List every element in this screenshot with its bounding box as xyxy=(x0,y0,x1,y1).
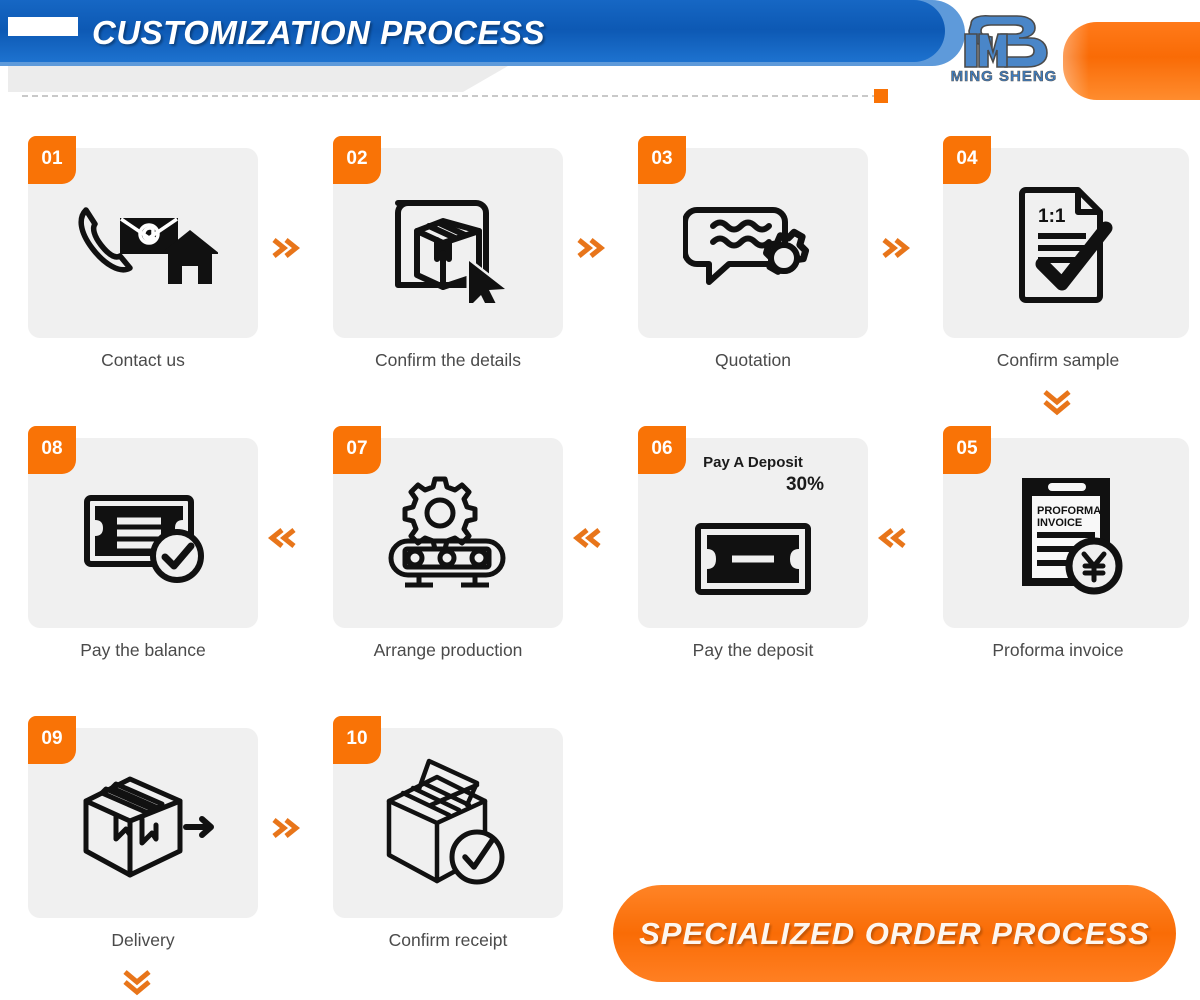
step-caption: Contact us xyxy=(18,350,268,371)
infographic-page: CUSTOMIZATION PROCESS MING SHENG xyxy=(0,0,1200,1000)
chevron-double-right-icon xyxy=(262,808,306,848)
step-card-04[interactable]: 04 1:1 xyxy=(933,128,1200,418)
step-caption: Pay the balance xyxy=(18,640,268,661)
card-surface: 02 xyxy=(333,148,563,338)
card-surface: 01 xyxy=(28,148,258,338)
header-dashed-rule xyxy=(22,95,878,97)
header-white-tick xyxy=(8,17,78,36)
brand-name: MING SHENG xyxy=(945,68,1063,85)
step-number-badge: 01 xyxy=(28,136,76,184)
card-surface: 05 PROFORMA INVOICE xyxy=(943,438,1189,628)
step-number-badge: 02 xyxy=(333,136,381,184)
header-dash-end-square xyxy=(874,89,888,103)
banner-label: SPECIALIZED ORDER PROCESS xyxy=(639,916,1150,952)
card-surface: 10 xyxy=(333,728,563,918)
process-row-2: 08 Pay the balance xyxy=(0,418,1200,708)
card-surface: 06 Pay A Deposit 30% xyxy=(638,438,868,628)
card-surface: 03 xyxy=(638,148,868,338)
specialized-order-process-banner[interactable]: SPECIALIZED ORDER PROCESS xyxy=(613,885,1176,982)
scale-label: 1:1 xyxy=(1038,206,1066,227)
chevron-double-left-icon xyxy=(872,518,916,558)
process-grid: 01 xyxy=(0,118,1200,1000)
invoice-line-1: PROFORMA xyxy=(1037,505,1101,517)
header-grey-ribbon xyxy=(8,66,508,92)
step-number-badge: 10 xyxy=(333,716,381,764)
process-row-1: 01 xyxy=(0,128,1200,418)
step-card-09[interactable]: 09 xyxy=(18,708,288,998)
page-title: CUSTOMIZATION PROCESS xyxy=(92,14,545,52)
chevron-double-right-icon xyxy=(567,228,611,268)
card-surface: 08 xyxy=(28,438,258,628)
step-number-badge: 03 xyxy=(638,136,686,184)
step-caption: Delivery xyxy=(18,930,268,951)
step-card-06[interactable]: 06 Pay A Deposit 30% Pay the deposit xyxy=(628,418,898,708)
step-caption: Confirm the details xyxy=(323,350,573,371)
card-surface: 09 xyxy=(28,728,258,918)
chevron-double-right-icon xyxy=(872,228,916,268)
step-card-05[interactable]: 05 PROFORMA INVOICE xyxy=(933,418,1200,708)
step-card-10[interactable]: 10 xyxy=(323,708,593,998)
step-caption: Confirm sample xyxy=(933,350,1183,371)
step-number-badge: 05 xyxy=(943,426,991,474)
step-card-08[interactable]: 08 Pay the balance xyxy=(18,418,288,708)
chevron-double-down-icon xyxy=(1035,384,1079,418)
step-card-01[interactable]: 01 xyxy=(18,128,288,418)
step-number-badge: 04 xyxy=(943,136,991,184)
step-number-badge: 07 xyxy=(333,426,381,474)
step-caption: Quotation xyxy=(628,350,878,371)
step-number-badge: 06 xyxy=(638,426,686,474)
invoice-line-2: INVOICE xyxy=(1037,517,1082,529)
step-caption: Pay the deposit xyxy=(628,640,878,661)
step-caption: Arrange production xyxy=(323,640,573,661)
banknote-icon xyxy=(638,464,868,654)
step-caption: Confirm receipt xyxy=(323,930,573,951)
chevron-double-left-icon xyxy=(262,518,306,558)
brand-logo: MING SHENG xyxy=(945,12,1063,96)
page-header: CUSTOMIZATION PROCESS MING SHENG xyxy=(0,0,1200,118)
chevron-double-left-icon xyxy=(567,518,611,558)
step-number-badge: 08 xyxy=(28,426,76,474)
step-card-07[interactable]: 07 xyxy=(323,418,593,708)
step-caption: Proforma invoice xyxy=(933,640,1183,661)
header-orange-accent xyxy=(1063,22,1200,100)
ming-sheng-monogram-icon xyxy=(957,12,1051,68)
card-surface: 04 1:1 xyxy=(943,148,1189,338)
chevron-double-right-icon xyxy=(262,228,306,268)
step-card-02[interactable]: 02 xyxy=(323,128,593,418)
card-surface: 07 xyxy=(333,438,563,628)
step-number-badge: 09 xyxy=(28,716,76,764)
step-card-03[interactable]: 03 xyxy=(628,128,898,418)
